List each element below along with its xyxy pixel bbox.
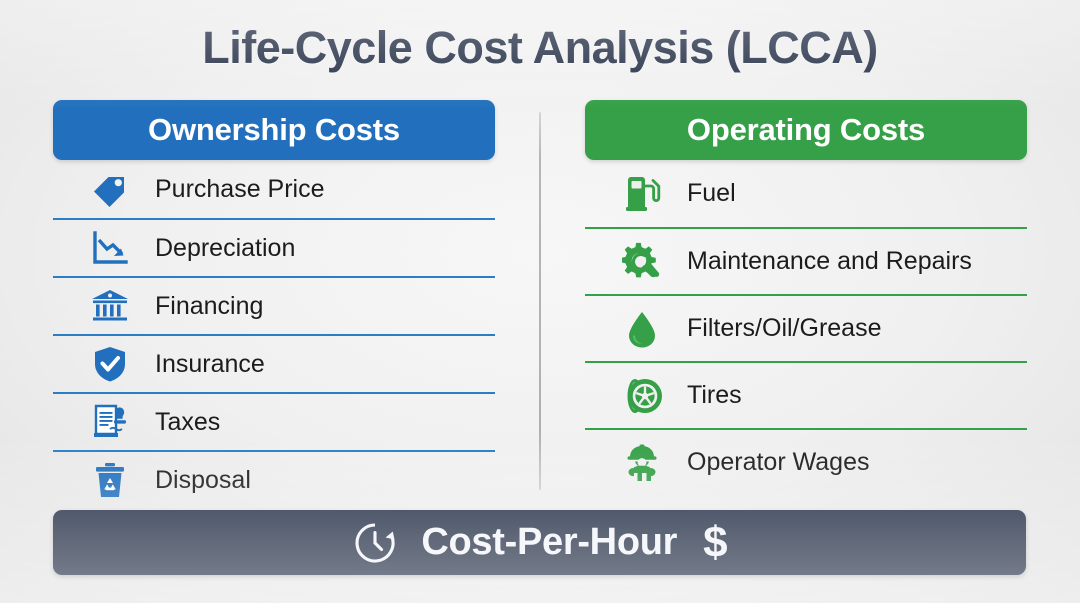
list-item[interactable]: Purchase Price xyxy=(53,160,495,218)
ownership-costs-header: Ownership Costs xyxy=(53,100,495,160)
list-item-label: Operator Wages xyxy=(687,448,869,477)
ownership-costs-list: Purchase Price Depreciation xyxy=(53,160,495,508)
column-divider xyxy=(539,112,541,490)
cost-per-hour-label: Cost-Per-Hour xyxy=(421,521,677,564)
list-item-label: Purchase Price xyxy=(155,175,325,204)
list-item[interactable]: Insurance xyxy=(53,334,495,392)
list-item[interactable]: Depreciation xyxy=(53,218,495,276)
operating-costs-column: Operating Costs Fuel xyxy=(585,100,1027,495)
page-title: Life-Cycle Cost Analysis (LCCA) xyxy=(0,22,1080,74)
dollar-sign-icon: $ xyxy=(703,521,727,565)
list-item[interactable]: Taxes xyxy=(53,392,495,450)
list-item-label: Filters/Oil/Grease xyxy=(687,314,881,343)
list-item[interactable]: Financing xyxy=(53,276,495,334)
list-item-label: Financing xyxy=(155,292,263,321)
ownership-costs-column: Ownership Costs Purchase Price xyxy=(53,100,495,508)
list-item-label: Maintenance and Repairs xyxy=(687,247,972,276)
list-item[interactable]: Fuel xyxy=(585,160,1027,227)
list-item[interactable]: Tires xyxy=(585,361,1027,428)
clock-arrow-icon xyxy=(351,519,399,567)
document-stamp-icon xyxy=(79,402,141,442)
oil-droplet-icon xyxy=(611,309,673,349)
list-item[interactable]: Maintenance and Repairs xyxy=(585,227,1027,294)
cost-per-hour-banner: Cost-Per-Hour $ xyxy=(53,510,1026,575)
recycle-bin-icon xyxy=(79,460,141,500)
list-item-label: Insurance xyxy=(155,350,265,379)
list-item[interactable]: Filters/Oil/Grease xyxy=(585,294,1027,361)
list-item-label: Depreciation xyxy=(155,234,295,263)
fuel-pump-icon xyxy=(611,174,673,214)
gear-wrench-icon xyxy=(611,242,673,282)
list-item-label: Disposal xyxy=(155,466,251,495)
tire-icon xyxy=(611,376,673,416)
operating-costs-list: Fuel Maintenance and Repairs xyxy=(585,160,1027,495)
list-item[interactable]: Operator Wages xyxy=(585,428,1027,495)
shield-check-icon xyxy=(79,344,141,384)
list-item-label: Taxes xyxy=(155,408,220,437)
price-tag-icon xyxy=(79,169,141,209)
operating-costs-header: Operating Costs xyxy=(585,100,1027,160)
worker-hardhat-icon xyxy=(611,443,673,483)
bank-building-icon xyxy=(79,286,141,326)
lcca-infographic: Life-Cycle Cost Analysis (LCCA) Ownershi… xyxy=(0,0,1080,603)
list-item-label: Tires xyxy=(687,381,742,410)
list-item-label: Fuel xyxy=(687,179,736,208)
list-item[interactable]: Disposal xyxy=(53,450,495,508)
declining-chart-icon xyxy=(79,228,141,268)
